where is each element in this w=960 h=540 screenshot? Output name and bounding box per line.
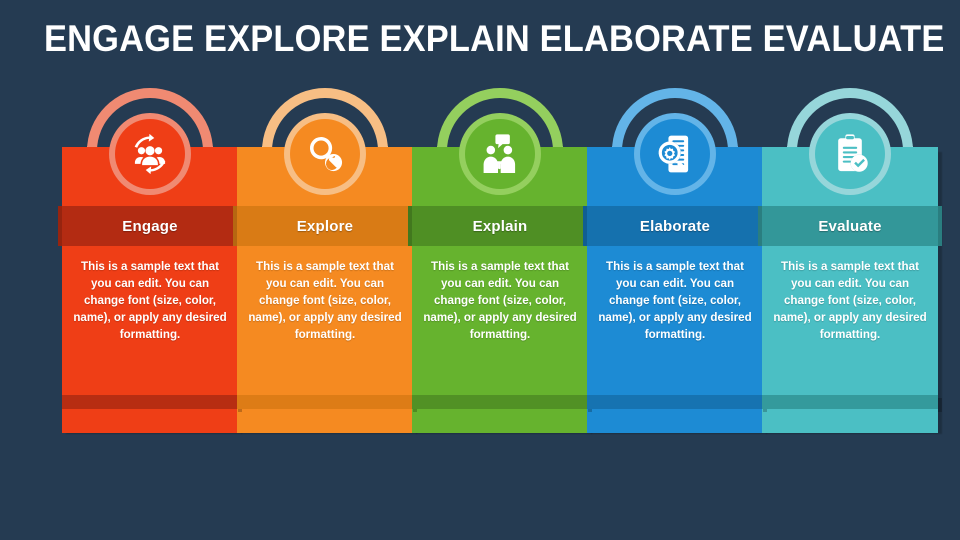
card-bottom-stripe-shadow (938, 398, 942, 412)
card-row: Engage This is a sample text that you ca… (0, 0, 960, 540)
banner-notch-left (758, 206, 762, 246)
card-label: Explain (473, 218, 528, 235)
card-label-banner: Explore (233, 206, 417, 246)
two-people-speech-bubble-icon[interactable] (465, 119, 535, 189)
card-bottom-stripe (412, 395, 588, 409)
slide-canvas: ENGAGE EXPLORE EXPLAIN ELABORATE EVALUAT… (0, 0, 960, 540)
banner-notch-left (233, 206, 237, 246)
card-label: Elaborate (640, 218, 710, 235)
card-bottom-stripe (587, 395, 763, 409)
card-bottom-stripe (237, 395, 413, 409)
card-description: This is a sample text that you can edit.… (247, 258, 403, 343)
card-label: Engage (122, 218, 177, 235)
magnifier-globe-icon[interactable] (290, 119, 360, 189)
card-elaborate[interactable]: Elaborate This is a sample text that you… (583, 88, 767, 433)
people-group-refresh-icon[interactable] (115, 119, 185, 189)
banner-notch-right (938, 206, 942, 246)
banner-notch-left (58, 206, 62, 246)
card-label-banner: Engage (58, 206, 242, 246)
card-label-banner: Explain (408, 206, 592, 246)
card-bottom-stripe (62, 395, 238, 409)
card-evaluate[interactable]: Evaluate This is a sample text that you … (758, 88, 942, 433)
document-magnifier-gear-icon[interactable] (640, 119, 710, 189)
card-explore[interactable]: Explore This is a sample text that you c… (233, 88, 417, 433)
card-label-banner: Evaluate (758, 206, 942, 246)
clipboard-check-icon[interactable] (815, 119, 885, 189)
card-description: This is a sample text that you can edit.… (772, 258, 928, 343)
card-label-banner: Elaborate (583, 206, 767, 246)
card-description: This is a sample text that you can edit.… (597, 258, 753, 343)
card-engage[interactable]: Engage This is a sample text that you ca… (58, 88, 242, 433)
card-explain[interactable]: Explain This is a sample text that you c… (408, 88, 592, 433)
card-description: This is a sample text that you can edit.… (422, 258, 578, 343)
card-description: This is a sample text that you can edit.… (72, 258, 228, 343)
card-bottom-stripe (762, 395, 938, 409)
card-label: Evaluate (818, 218, 881, 235)
banner-notch-left (408, 206, 412, 246)
banner-notch-left (583, 206, 587, 246)
card-label: Explore (297, 218, 353, 235)
